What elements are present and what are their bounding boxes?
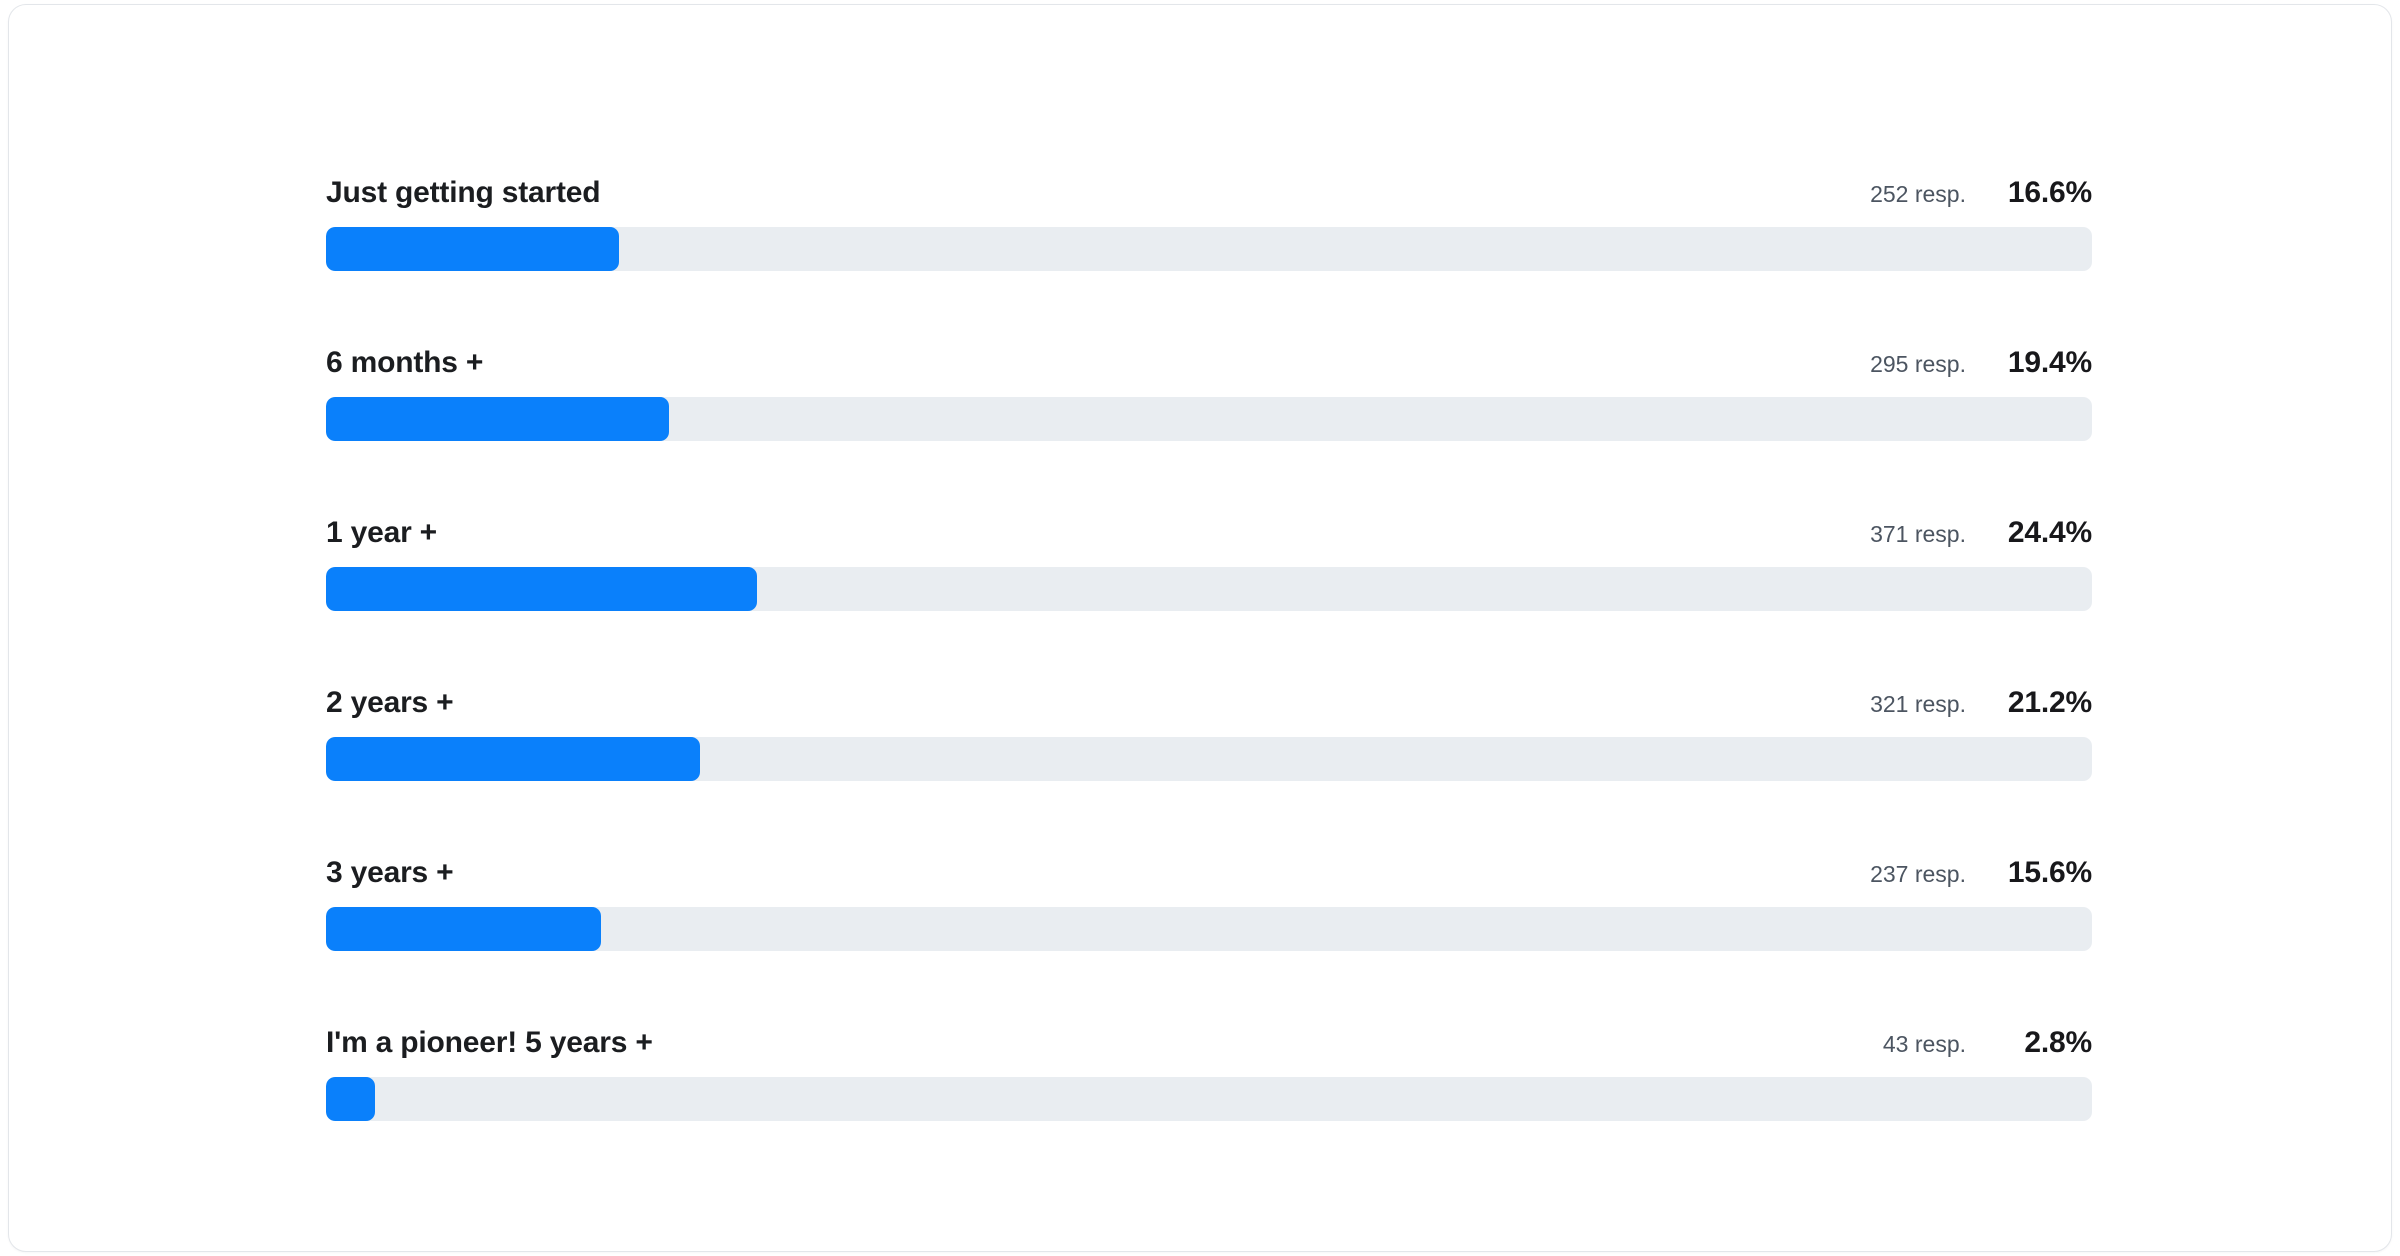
result-row-responses: 321 resp. <box>1870 684 1966 724</box>
bar-track <box>326 227 2092 271</box>
bar-track <box>326 1077 2092 1121</box>
bar-fill <box>326 907 601 951</box>
result-row-stats: 295 resp. 19.4% <box>1870 343 2092 384</box>
result-row-stats: 43 resp. 2.8% <box>1883 1023 2092 1064</box>
result-row-header: 3 years + 237 resp. 15.6% <box>326 853 2092 893</box>
result-row-responses: 295 resp. <box>1870 344 1966 384</box>
result-row-header: 1 year + 371 resp. 24.4% <box>326 513 2092 553</box>
result-row-percent: 21.2% <box>1966 683 2092 723</box>
result-row-label: Just getting started <box>326 173 600 213</box>
result-row-responses: 237 resp. <box>1870 854 1966 894</box>
result-row-stats: 252 resp. 16.6% <box>1870 173 2092 214</box>
bar-fill <box>326 737 700 781</box>
result-row-label: 1 year + <box>326 513 437 553</box>
result-row-header: 2 years + 321 resp. 21.2% <box>326 683 2092 723</box>
result-row[interactable]: 1 year + 371 resp. 24.4% <box>326 513 2092 611</box>
result-row[interactable]: 2 years + 321 resp. 21.2% <box>326 683 2092 781</box>
result-row-percent: 16.6% <box>1966 173 2092 213</box>
result-row-percent: 2.8% <box>1966 1023 2092 1063</box>
bar-fill <box>326 1077 375 1121</box>
result-row-responses: 43 resp. <box>1883 1024 1966 1064</box>
result-row-label: 6 months + <box>326 343 483 383</box>
bar-fill <box>326 567 757 611</box>
result-row-stats: 321 resp. 21.2% <box>1870 683 2092 724</box>
result-row-label: 2 years + <box>326 683 454 723</box>
result-row-responses: 252 resp. <box>1870 174 1966 214</box>
bar-fill <box>326 397 669 441</box>
bar-fill <box>326 227 619 271</box>
result-row-label: I'm a pioneer! 5 years + <box>326 1023 653 1063</box>
bar-track <box>326 907 2092 951</box>
result-row-percent: 15.6% <box>1966 853 2092 893</box>
result-row-percent: 24.4% <box>1966 513 2092 553</box>
survey-results-bar-chart: Just getting started 252 resp. 16.6% 6 m… <box>326 173 2092 1121</box>
result-row-stats: 371 resp. 24.4% <box>1870 513 2092 554</box>
bar-track <box>326 737 2092 781</box>
result-row-header: I'm a pioneer! 5 years + 43 resp. 2.8% <box>326 1023 2092 1063</box>
result-row-stats: 237 resp. 15.6% <box>1870 853 2092 894</box>
bar-track <box>326 397 2092 441</box>
result-row[interactable]: 3 years + 237 resp. 15.6% <box>326 853 2092 951</box>
result-row[interactable]: I'm a pioneer! 5 years + 43 resp. 2.8% <box>326 1023 2092 1121</box>
result-row[interactable]: 6 months + 295 resp. 19.4% <box>326 343 2092 441</box>
result-row[interactable]: Just getting started 252 resp. 16.6% <box>326 173 2092 271</box>
results-card: Just getting started 252 resp. 16.6% 6 m… <box>8 4 2392 1252</box>
bar-track <box>326 567 2092 611</box>
result-row-label: 3 years + <box>326 853 454 893</box>
result-row-responses: 371 resp. <box>1870 514 1966 554</box>
result-row-header: Just getting started 252 resp. 16.6% <box>326 173 2092 213</box>
result-row-percent: 19.4% <box>1966 343 2092 383</box>
result-row-header: 6 months + 295 resp. 19.4% <box>326 343 2092 383</box>
